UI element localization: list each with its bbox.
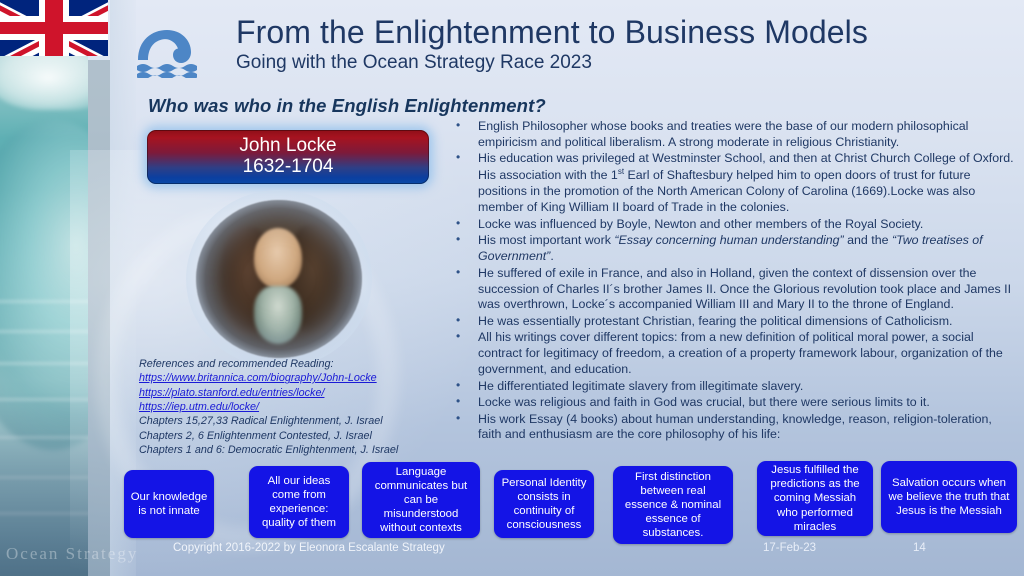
person-years: 1632-1704 [147,156,429,178]
reference-link-britannica[interactable]: https://www.britannica.com/biography/Joh… [139,372,377,384]
list-item: His most important work “Essay concernin… [452,233,1018,265]
bullet-text-8: He differentiated legitimate slavery fro… [478,379,803,393]
list-item: Locke was influenced by Boyle, Newton an… [452,217,1018,233]
wave-streak [0,330,88,333]
bullet-text-10: His work Essay (4 books) about human und… [478,412,992,442]
references-heading: References and recommended Reading: [139,357,398,371]
list-item: His work Essay (4 books) about human und… [452,412,1018,444]
list-item: Locke was religious and faith in God was… [452,395,1018,411]
bullet-text-4: His most important work “Essay concernin… [478,233,983,263]
translucent-band [88,60,110,576]
references-block: References and recommended Reading: http… [139,357,398,458]
section-heading: Who was who in the English Enlightenment… [148,95,546,117]
concept-box-4[interactable]: Personal Identity consists in continuity… [494,470,594,538]
list-item: His education was privileged at Westmins… [452,151,1018,216]
concept-box-3[interactable]: Language communicates but can be misunde… [362,462,480,538]
footer-date: 17-Feb-23 [763,542,816,554]
list-item: English Philosopher whose books and trea… [452,119,1018,151]
bullet-text-9: Locke was religious and faith in God was… [478,395,930,409]
list-item: All his writings cover different topics:… [452,330,1018,378]
concept-box-7[interactable]: Salvation occurs when we believe the tru… [881,461,1017,533]
ocean-wave-icon [134,26,206,78]
reference-book-1: Chapters 15,27,33 Radical Enlightenment,… [139,414,398,428]
presentation-slide: Ocean Strategy From the Enlightenment to… [0,0,1024,576]
john-locke-portrait [196,200,362,358]
reference-link-iep[interactable]: https://iep.utm.edu/locke/ [139,401,259,413]
footer-page-number: 14 [913,542,926,554]
page-subtitle: Going with the Ocean Strategy Race 2023 [236,52,592,74]
bullet-text-6: He was essentially protestant Christian,… [478,314,953,328]
bullet-text-3: Locke was influenced by Boyle, Newton an… [478,217,923,231]
reference-book-2: Chapters 2, 6 Enlightenment Contested, J… [139,429,398,443]
footer-copyright: Copyright 2016-2022 by Eleonora Escalant… [173,542,445,554]
wave-streak [0,300,88,303]
concept-box-1[interactable]: Our knowledge is not innate [124,470,214,538]
list-item: He suffered of exile in France, and also… [452,266,1018,314]
bullet-text-7: All his writings cover different topics:… [478,330,1003,376]
concept-box-6[interactable]: Jesus fulfilled the predictions as the c… [757,461,873,536]
biography-bullet-list: English Philosopher whose books and trea… [452,119,1018,444]
union-jack-flag-icon [0,0,108,56]
list-item: He differentiated legitimate slavery fro… [452,379,1018,395]
reference-book-3: Chapters 1 and 6: Democratic Enlightenme… [139,443,398,457]
page-title: From the Enlightenment to Business Model… [236,16,868,50]
ocean-wave-photo [0,0,88,576]
wave-streak [0,362,88,365]
list-item: He was essentially protestant Christian,… [452,314,1018,330]
bullet-text-5: He suffered of exile in France, and also… [478,266,1011,312]
bullet-text-2: His education was privileged at Westmins… [478,151,1014,214]
concept-box-2[interactable]: All our ideas come from experience: qual… [249,466,349,538]
bullet-text-1: English Philosopher whose books and trea… [478,119,968,149]
person-name: John Locke [147,130,429,156]
reference-link-stanford[interactable]: https://plato.stanford.edu/entries/locke… [139,387,324,399]
person-name-banner: John Locke 1632-1704 [147,130,429,184]
concept-box-5[interactable]: First distinction between real essence &… [613,466,733,544]
